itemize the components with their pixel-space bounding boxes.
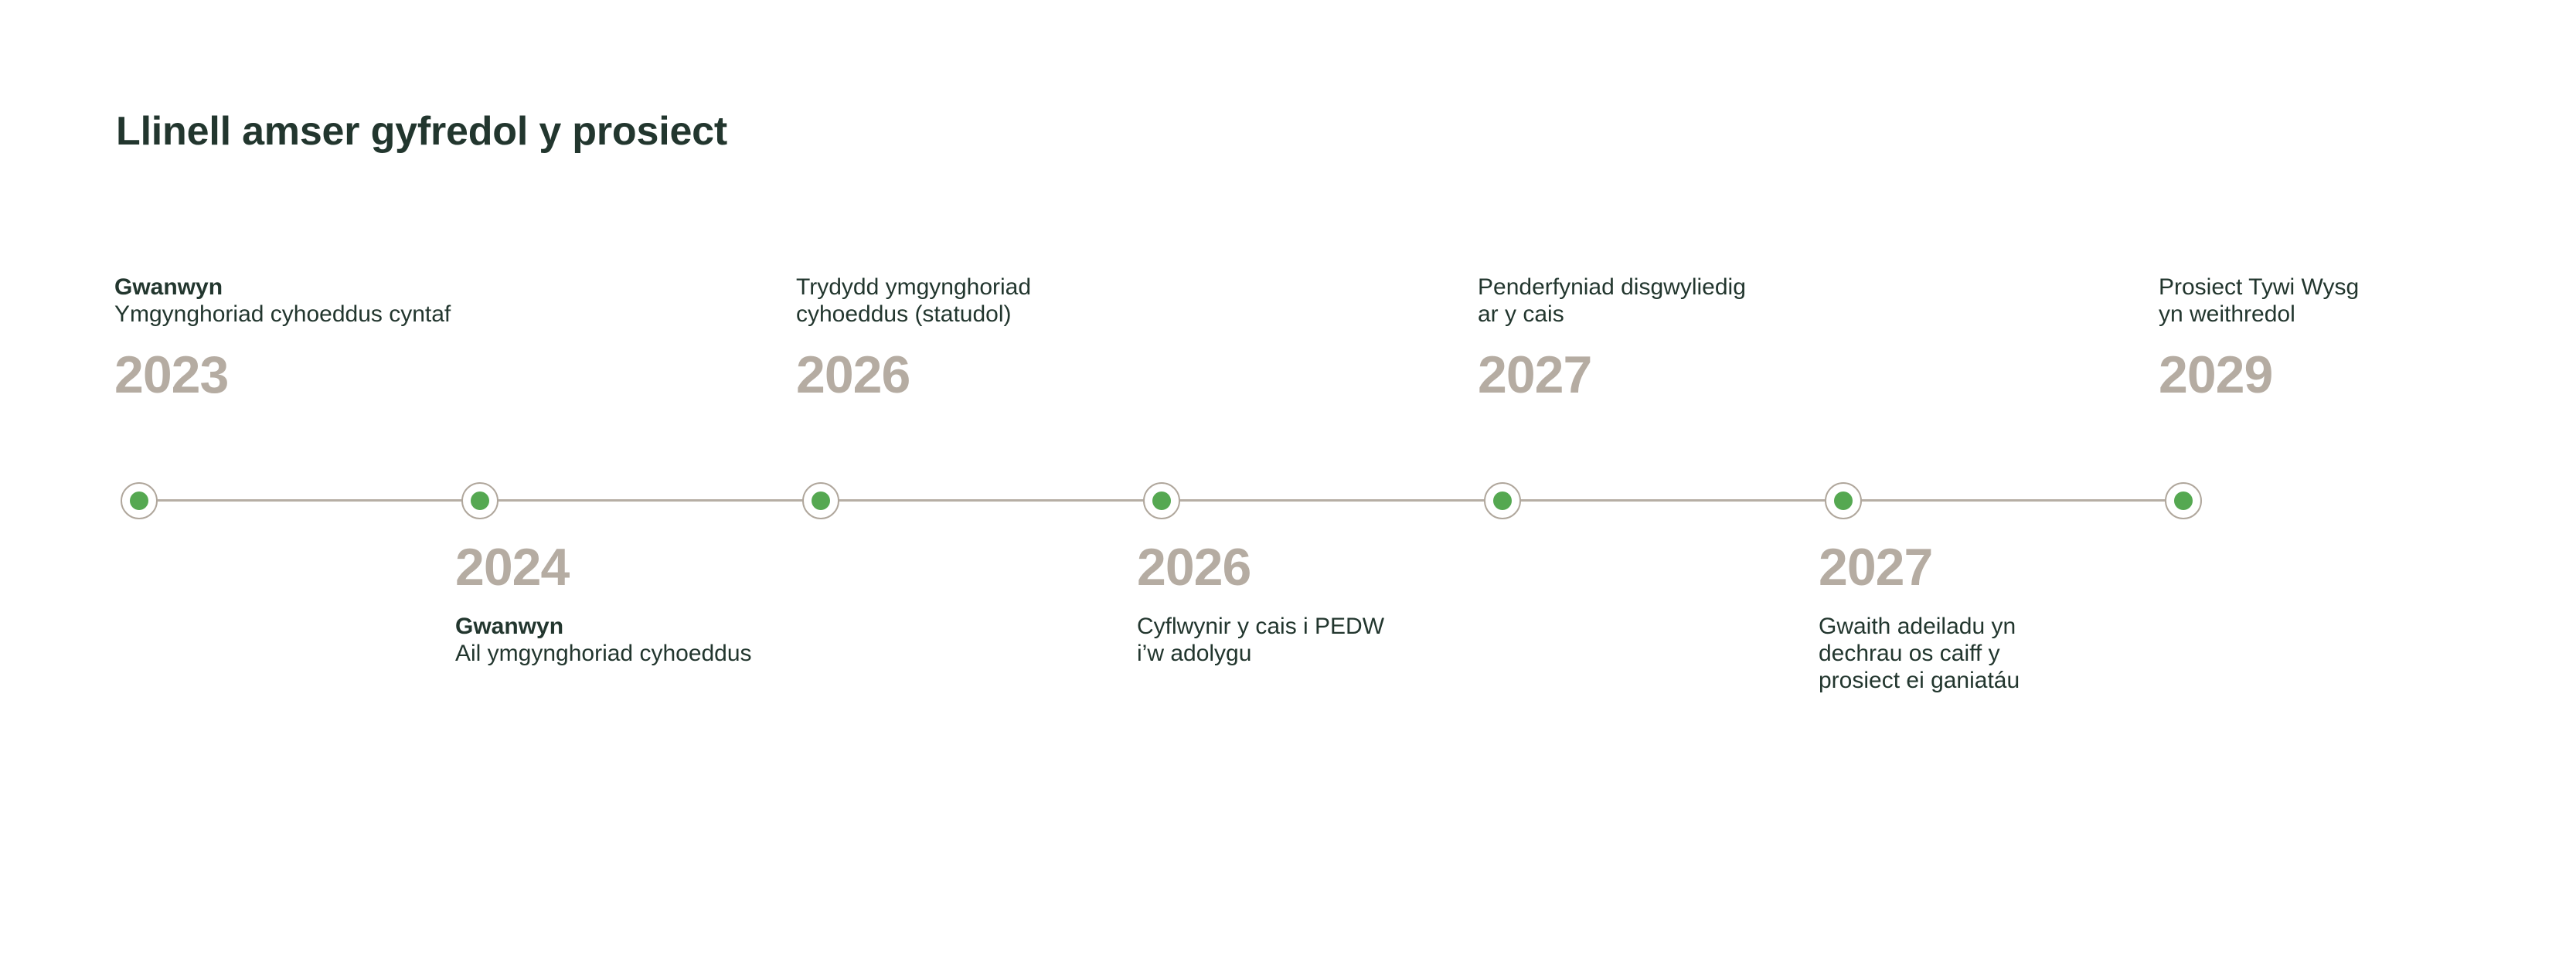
timeline-entry: Penderfyniad disgwyliedigar y cais2027 (1478, 274, 1802, 401)
timeline-marker-dot[interactable] (461, 482, 499, 519)
timeline-entry-line: Ymgynghoriad cyhoeddus cyntaf (114, 301, 439, 328)
timeline-marker-dot[interactable] (802, 482, 839, 519)
timeline-entry: 2024GwanwynAil ymgynghoriad cyhoeddus (455, 541, 780, 668)
timeline-marker-dot[interactable] (1143, 482, 1180, 519)
timeline-dot-icon (1152, 492, 1171, 510)
timeline-dot-icon (471, 492, 489, 510)
timeline-page: Llinell amser gyfredol y prosiect Gwanwy… (0, 0, 2576, 966)
timeline-entry-line: Penderfyniad disgwyliedig (1478, 274, 1802, 301)
timeline-entry-line: Prosiect Tywi Wysg (2159, 274, 2483, 301)
timeline-marker-dot[interactable] (121, 482, 158, 519)
timeline-entry-heading: Gwanwyn (114, 274, 439, 301)
page-title: Llinell amser gyfredol y prosiect (116, 108, 727, 155)
timeline-entry-text: GwanwynYmgynghoriad cyhoeddus cyntaf (114, 274, 439, 328)
timeline-dot-icon (2174, 492, 2193, 510)
timeline-entry-text: Cyflwynir y cais i PEDWi’w adolygu (1137, 614, 1462, 668)
timeline-marker-dot[interactable] (1484, 482, 1521, 519)
timeline-entry-line: i’w adolygu (1137, 641, 1462, 668)
timeline-marker-dot[interactable] (1825, 482, 1862, 519)
timeline-entry-year: 2027 (1478, 349, 1802, 401)
timeline-dot-icon (1493, 492, 1512, 510)
timeline-entry-year: 2026 (1137, 541, 1462, 594)
timeline-entry-text: GwanwynAil ymgynghoriad cyhoeddus (455, 614, 780, 668)
timeline-entry-line: yn weithredol (2159, 301, 2483, 328)
timeline-entry: Trydydd ymgynghoriadcyhoeddus (statudol)… (796, 274, 1121, 401)
timeline-entry-year: 2024 (455, 541, 780, 594)
timeline-entry-line: ar y cais (1478, 301, 1802, 328)
timeline-entry-line: prosiect ei ganiatáu (1819, 668, 2143, 695)
timeline-entry-heading: Gwanwyn (455, 614, 780, 641)
timeline-entry-line: Trydydd ymgynghoriad (796, 274, 1121, 301)
timeline-dot-icon (812, 492, 830, 510)
timeline-entry-line: cyhoeddus (statudol) (796, 301, 1121, 328)
timeline-entry: Prosiect Tywi Wysgyn weithredol2029 (2159, 274, 2483, 401)
timeline-entry-line: Gwaith adeiladu yn (1819, 614, 2143, 641)
timeline-entry-text: Gwaith adeiladu yndechrau os caiff ypros… (1819, 614, 2143, 694)
timeline-entry-year: 2026 (796, 349, 1121, 401)
timeline-entry-line: Ail ymgynghoriad cyhoeddus (455, 641, 780, 668)
timeline-dot-icon (1834, 492, 1853, 510)
timeline-marker-dot[interactable] (2165, 482, 2202, 519)
timeline-entry: 2027Gwaith adeiladu yndechrau os caiff y… (1819, 541, 2143, 694)
timeline-entry-line: dechrau os caiff y (1819, 641, 2143, 668)
timeline-entry-year: 2029 (2159, 349, 2483, 401)
timeline-entry-text: Trydydd ymgynghoriadcyhoeddus (statudol) (796, 274, 1121, 328)
timeline-dot-icon (130, 492, 148, 510)
timeline-entry: GwanwynYmgynghoriad cyhoeddus cyntaf2023 (114, 274, 439, 401)
timeline-entry-year: 2023 (114, 349, 439, 401)
timeline-entry: 2026Cyflwynir y cais i PEDWi’w adolygu (1137, 541, 1462, 668)
timeline-entry-text: Penderfyniad disgwyliedigar y cais (1478, 274, 1802, 328)
timeline-entry-text: Prosiect Tywi Wysgyn weithredol (2159, 274, 2483, 328)
timeline-entry-year: 2027 (1819, 541, 2143, 594)
timeline-entry-line: Cyflwynir y cais i PEDW (1137, 614, 1462, 641)
